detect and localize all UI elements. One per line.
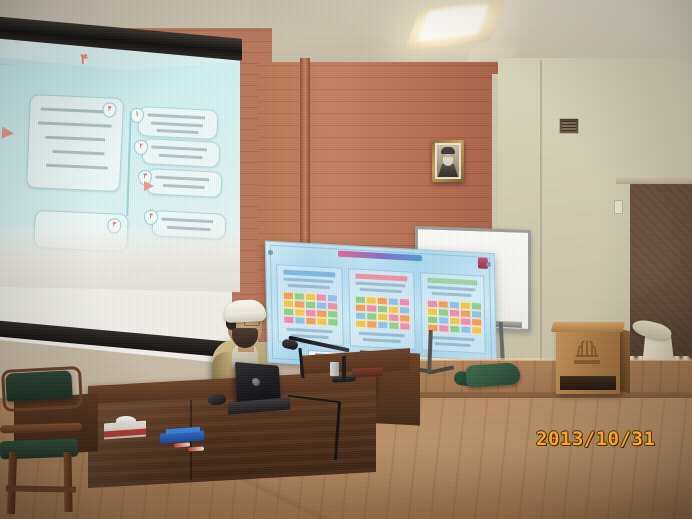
slide-left-box-badge: ۴ <box>102 102 117 118</box>
portrait-turban <box>441 147 455 154</box>
chair-stretcher-rail <box>6 485 76 492</box>
slide-arrow-middle <box>144 181 154 191</box>
curtain-rod <box>616 176 692 184</box>
banner-panel-1 <box>276 264 344 346</box>
slide-right-item-1 <box>137 106 218 140</box>
camera-datestamp: 2013/10/31 <box>536 428 655 450</box>
chair-backrest <box>5 370 72 401</box>
slide-right-item-2 <box>141 138 220 168</box>
chair-leg-right <box>63 452 72 512</box>
lectern-inscription <box>574 360 600 364</box>
slide-connector-vertical <box>126 112 132 216</box>
photograph-lecture-hall: ۴ ۴ ۱ ۲ <box>0 0 692 519</box>
banner-grommet-left <box>268 250 273 255</box>
slide-left-box: ۴ <box>26 94 124 192</box>
banner-grommet-right <box>486 262 491 267</box>
projection-screen-glare <box>0 226 240 292</box>
slide-top-number: ۴ <box>80 50 89 68</box>
slide-arrow-left <box>2 127 15 140</box>
allah-tulip-emblem-icon <box>572 336 602 358</box>
banner-panel-2 <box>348 268 416 350</box>
ventilation-grille-icon <box>559 118 579 134</box>
microphone-stem <box>342 356 346 380</box>
lectern-shelf <box>560 376 616 390</box>
green-cloth <box>465 362 520 388</box>
wall-seam <box>540 60 542 360</box>
slide-right-item-3 <box>145 168 222 198</box>
laptop-logo <box>252 377 260 386</box>
water-glass[interactable] <box>330 362 339 376</box>
lectern-top <box>551 322 625 332</box>
projection-screen: ۴ ۴ ۱ ۲ <box>0 16 254 356</box>
tissue-sheet <box>116 416 136 425</box>
